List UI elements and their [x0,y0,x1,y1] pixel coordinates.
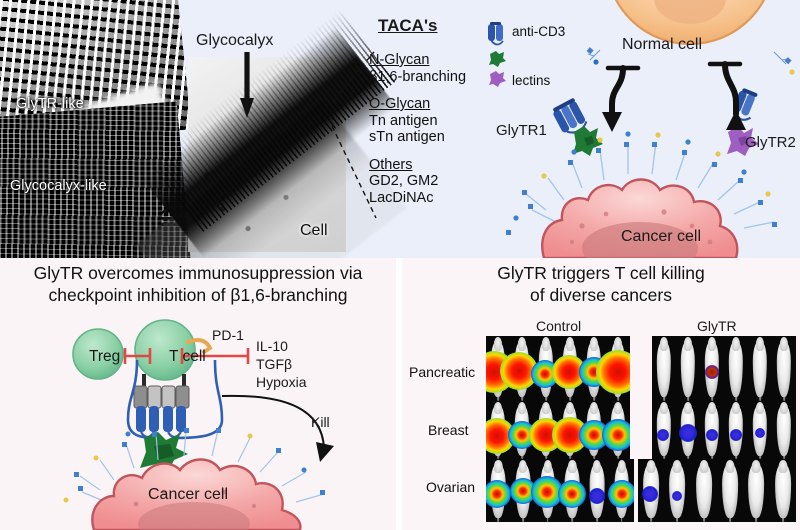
mouse-4 [724,401,748,459]
label-tgfb: TGFβ [256,356,292,372]
mouse-head [684,402,692,415]
label-glytr1: GlyTR1 [496,122,547,139]
label-il10: IL-10 [256,338,288,354]
anti-cd3-icon [488,22,503,45]
bioluminescence-signal [608,480,634,508]
bottom-right-title: GlyTR triggers T cell killing of diverse… [402,262,800,306]
mouse-head [726,460,735,474]
mouse-head [780,402,788,415]
mouse-5 [748,401,772,459]
mouse-image-breast-control [486,401,630,459]
mouse-head [614,402,622,415]
mouse-head [542,402,550,415]
mouse-head [756,337,764,351]
taca-item-gd2-gm2: GD2, GM2 [369,173,494,190]
bioluminescence-signal [589,488,605,504]
glytr1-construct [540,96,630,168]
taca-list: N-Glycan β1,6-branching O-Glycan Tn anti… [369,52,494,206]
mouse-6 [606,336,630,401]
taca-heading-n-glycan: N-Glycan [369,52,494,69]
mouse-head [590,402,598,415]
mouse-4 [558,401,582,459]
bioluminescence-signal [755,428,765,438]
mouse-6 [770,459,796,522]
mouse-head [778,460,787,474]
label-normal-cell: Normal cell [622,36,702,54]
label-glycocalyx-pointer: Glycocalyx [196,32,273,50]
mouse-head [519,460,527,474]
bottom-left-title-line1: GlyTR overcomes immunosuppression via [0,262,396,284]
mouse-6 [606,401,630,459]
bioluminescence-signal [705,365,719,379]
label-glytr-like: GlyTR-like [16,96,84,112]
bioluminescence-signal [672,491,682,501]
bioluminescence-signal [730,429,742,441]
mouse-image-ovarian-glytr [638,459,796,522]
bioluminescence-signal [679,424,697,442]
mouse-1 [486,401,510,459]
taca-gap-2 [369,146,494,157]
row-label-ovarian: Ovarian [426,479,475,495]
column-header-control: Control [536,318,581,334]
mouse-head [593,460,601,474]
label-cancer-cell-bottom: Cancer cell [148,486,228,504]
taca-heading-others: Others [369,157,494,174]
mouse-head [494,402,502,415]
mouse-head [518,402,526,415]
mouse-head [568,460,576,474]
mouse-head [732,337,740,351]
mouse-head [780,337,788,351]
mouse-4 [560,459,585,522]
taca-heading-o-glycan: O-Glycan [369,96,494,113]
label-glytr2: GlyTR2 [745,134,796,151]
mouse-2 [676,401,700,459]
label-glycocalyx-like: Glycocalyx-like [10,178,107,194]
mouse-1 [652,336,676,401]
mouse-6 [772,336,796,401]
taca-item-lacdinac: LacDiNAc [369,190,494,207]
mouse-5 [585,459,610,522]
row-label-pancreatic: Pancreatic [409,364,475,380]
mouse-3 [535,459,560,522]
mouse-head [647,460,656,474]
mouse-image-ovarian-control [486,459,634,522]
mouse-1 [486,459,511,522]
mouse-6 [772,401,796,459]
legend-label-anti-cd3: anti-CD3 [512,24,565,39]
label-cell: Cell [300,222,328,240]
label-treg: Treg [89,348,120,366]
taca-gap-1 [369,85,494,96]
mouse-head [752,460,761,474]
mouse-head [518,337,526,351]
mouse-head [590,337,598,351]
mouse-head [732,402,740,415]
mouse-image-breast-glytr [652,401,796,459]
label-kill: Kill [311,414,330,430]
mouse-head [708,402,716,415]
taca-title: TACA's [378,16,437,36]
taca-item-tn-antigen: Tn antigen [369,113,494,130]
glycan-symbols [506,131,777,235]
taca-item-b16-branching: β1,6-branching [369,69,494,86]
mouse-4 [724,336,748,401]
lectin-green-icon [489,51,506,67]
mouse-2 [664,459,690,522]
mouse-head [660,402,668,415]
label-cancer-cell-top: Cancer cell [621,228,701,246]
mouse-1 [638,459,664,522]
bioluminescence-signal [706,429,718,441]
bottom-left-title-line2: checkpoint inhibition of β1,6-branching [0,284,396,306]
mouse-head [699,460,708,474]
bioluminescence-signal [486,480,511,508]
bottom-right-title-line1: GlyTR triggers T cell killing [402,262,800,284]
label-t-cell: T cell [169,348,206,366]
mouse-head [684,337,692,351]
taca-item-stn-antigen: sTn antigen [369,129,494,146]
mouse-image-pancreatic-glytr [652,336,796,401]
mouse-3 [700,336,724,401]
bottom-right-title-line2: of diverse cancers [402,284,800,306]
mouse-image-pancreatic-control [486,336,630,401]
mouse-5 [748,336,772,401]
glycocalyx-down-arrow [240,52,254,120]
bioluminescence-signal [558,480,586,508]
mouse-head [543,460,551,474]
mouse-5 [743,459,769,522]
mouse-head [708,337,716,351]
bioluminescence-signal [602,419,630,451]
mouse-1 [652,401,676,459]
mouse-3 [700,401,724,459]
mouse-2 [676,336,700,401]
bioluminescence-signal [657,429,669,441]
mouse-head [494,337,502,351]
panel-top-overview: GlyTR-like Glycocalyx-like ≅ Cell Glycoc… [0,0,800,258]
label-hypoxia: Hypoxia [256,374,307,390]
bottom-left-title: GlyTR overcomes immunosuppression via ch… [0,262,396,306]
mouse-3 [691,459,717,522]
mouse-head [617,460,625,474]
legend-label-lectins: lectins [512,73,550,88]
figure-root: GlyTR-like Glycocalyx-like ≅ Cell Glycoc… [0,0,800,530]
mouse-head [660,337,668,351]
lectin-purple-icon [489,71,506,87]
mouse-head [542,337,550,351]
micrograph-scaffold: GlyTR-like Glycocalyx-like [0,0,156,250]
mouse-head [494,460,502,474]
bioluminescence-signal [642,486,658,502]
mouse-6 [609,459,634,522]
mouse-head [673,460,682,474]
row-label-breast: Breast [428,422,468,438]
mouse-head [566,402,574,415]
mouse-head [756,402,764,415]
label-pd1: PD-1 [212,327,244,343]
column-header-glytr: GlyTR [697,318,737,334]
mouse-4 [717,459,743,522]
glytr2-construct [712,92,800,170]
mouse-head [566,337,574,351]
